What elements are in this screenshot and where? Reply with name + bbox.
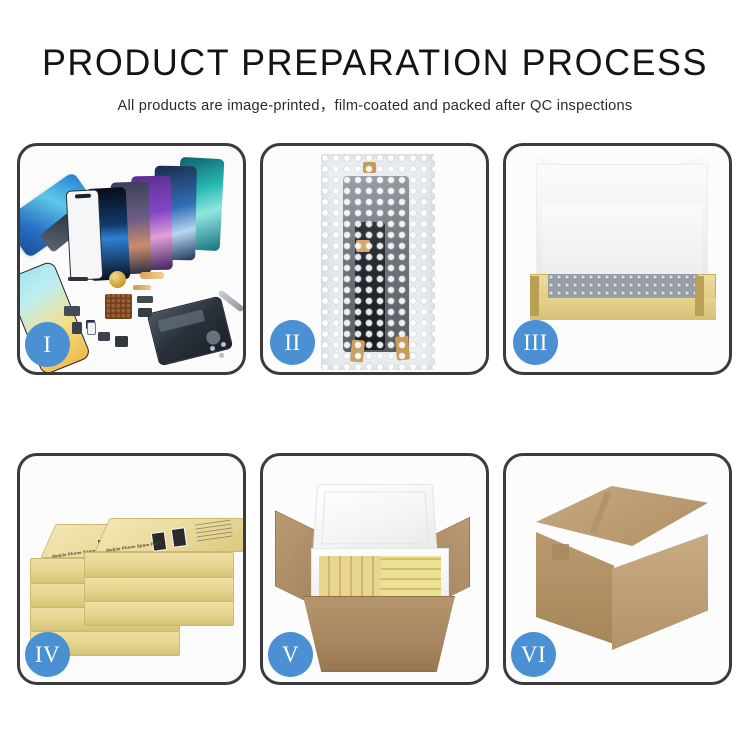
stacked-box-5 — [84, 600, 234, 626]
screw-3 — [221, 342, 226, 347]
screw-2 — [219, 353, 224, 358]
page-title: PRODUCT PREPARATION PROCESS — [11, 44, 739, 83]
page-header: PRODUCT PREPARATION PROCESS All products… — [0, 0, 750, 115]
step-panel-4: Mobile Phone Spare Parts Mobile Phone Sp… — [17, 453, 246, 685]
part-bar-1 — [68, 277, 88, 281]
step-badge-2: II — [270, 320, 315, 365]
yellow-boxes-row-b — [381, 556, 441, 598]
gold-coil-part — [109, 271, 126, 288]
carton-left-face — [536, 532, 614, 644]
part-bar-5 — [98, 332, 110, 341]
phone-screen-glass — [66, 189, 104, 281]
box-corner-left — [530, 276, 539, 316]
step-panel-3: III — [503, 143, 732, 375]
part-bar-8 — [138, 308, 152, 317]
bubble-texture — [321, 154, 435, 370]
step-badge-1: I — [25, 322, 70, 367]
copper-chip-grid-part — [105, 294, 132, 319]
screw-1 — [210, 346, 215, 351]
part-bar-3 — [72, 322, 82, 334]
carton-body — [303, 596, 455, 672]
step-panel-2: II — [260, 143, 489, 375]
carton-top-face — [536, 486, 708, 546]
bubble-wrap-bag — [321, 154, 435, 370]
step-badge-3: III — [513, 320, 558, 365]
box-corner-right — [695, 276, 704, 316]
part-bar-7 — [137, 296, 153, 303]
part-bar-6 — [115, 336, 128, 347]
foam-sheet — [542, 204, 702, 282]
phone-notch-icon — [74, 194, 90, 198]
step-panel-1: I — [17, 143, 246, 375]
carton-tape-1 — [552, 544, 569, 560]
step-panel-6: VI — [503, 453, 732, 685]
step-badge-4: IV — [25, 632, 70, 677]
box-phone-image-upper-b — [171, 527, 188, 548]
carton-tape-2 — [558, 608, 575, 624]
small-screen-part — [87, 322, 96, 335]
step-badge-5: V — [268, 632, 313, 677]
process-steps-grid: I II — [17, 143, 733, 691]
kraft-box-front — [530, 298, 716, 320]
flex-cable-2 — [133, 285, 151, 290]
flex-cable-1 — [140, 272, 164, 279]
carton-right-face — [612, 534, 708, 650]
part-bar-2 — [64, 306, 80, 316]
stacked-box-6 — [84, 576, 234, 602]
step-panel-5: V — [260, 453, 489, 685]
page-subtitle: All products are image-printed，film-coat… — [0, 94, 750, 115]
foam-box-lid — [312, 484, 437, 553]
stacked-box-7 — [84, 552, 234, 578]
product-preparation-page: PRODUCT PREPARATION PROCESS All products… — [0, 0, 750, 750]
step-badge-6: VI — [511, 632, 556, 677]
